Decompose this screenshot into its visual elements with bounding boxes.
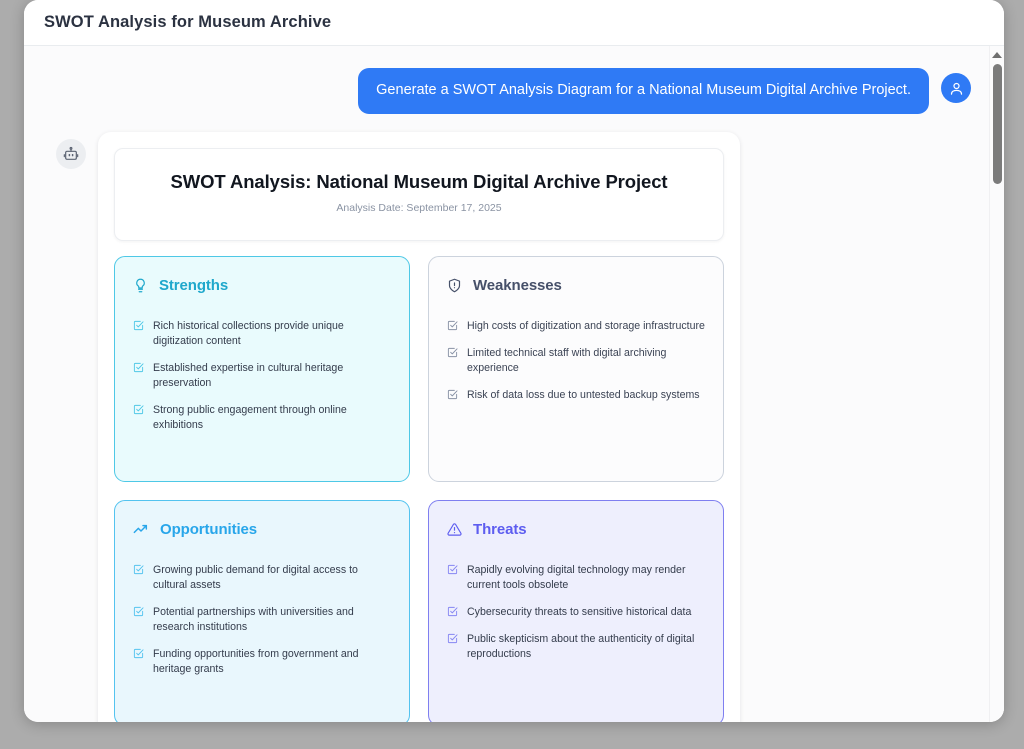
quadrant-item-list: Growing public demand for digital access… (133, 563, 391, 677)
list-item: Cybersecurity threats to sensitive histo… (447, 605, 705, 620)
vertical-scrollbar[interactable] (989, 46, 1004, 722)
chat-scroll-region[interactable]: Generate a SWOT Analysis Diagram for a N… (24, 46, 989, 722)
quadrant-weaknesses: Weaknesses High costs of digitization an… (428, 256, 724, 482)
checkbox-checked-icon (447, 606, 458, 617)
list-item-text: Rich historical collections provide uniq… (153, 319, 391, 349)
list-item: Growing public demand for digital access… (133, 563, 391, 593)
user-message-bubble: Generate a SWOT Analysis Diagram for a N… (358, 68, 929, 114)
list-item-text: Risk of data loss due to untested backup… (467, 388, 700, 403)
chat-area: Generate a SWOT Analysis Diagram for a N… (24, 46, 1004, 722)
robot-icon (56, 139, 86, 169)
swot-subtitle: Analysis Date: September 17, 2025 (131, 202, 707, 214)
checkbox-checked-icon (447, 564, 458, 575)
assistant-message-row: SWOT Analysis: National Museum Digital A… (24, 114, 989, 722)
quadrant-threats: Threats Rapidly evolving digital technol… (428, 500, 724, 722)
list-item-text: Strong public engagement through online … (153, 403, 391, 433)
quadrant-title: Strengths (159, 277, 228, 294)
checkbox-checked-icon (447, 633, 458, 644)
checkbox-checked-icon (133, 564, 144, 575)
trending-up-icon (133, 521, 149, 537)
quadrant-title: Opportunities (160, 521, 257, 538)
list-item: High costs of digitization and storage i… (447, 319, 705, 334)
swot-title: SWOT Analysis: National Museum Digital A… (131, 171, 707, 193)
list-item: Limited technical staff with digital arc… (447, 346, 705, 376)
swot-header: SWOT Analysis: National Museum Digital A… (114, 148, 724, 241)
scrollbar-thumb[interactable] (993, 64, 1002, 184)
quadrant-item-list: Rich historical collections provide uniq… (133, 319, 391, 433)
scroll-up-arrow-icon[interactable] (992, 52, 1002, 58)
user-icon (941, 73, 971, 103)
quadrant-title: Threats (473, 521, 527, 538)
checkbox-checked-icon (133, 362, 144, 373)
list-item-text: Public skepticism about the authenticity… (467, 632, 705, 662)
quadrant-title: Weaknesses (473, 277, 562, 294)
list-item-text: Limited technical staff with digital arc… (467, 346, 705, 376)
list-item-text: Rapidly evolving digital technology may … (467, 563, 705, 593)
list-item-text: Cybersecurity threats to sensitive histo… (467, 605, 691, 620)
list-item: Public skepticism about the authenticity… (447, 632, 705, 662)
checkbox-checked-icon (133, 606, 144, 617)
checkbox-checked-icon (447, 389, 458, 400)
quadrant-header: Threats (447, 521, 705, 538)
shield-alert-icon (447, 278, 462, 293)
list-item: Rapidly evolving digital technology may … (447, 563, 705, 593)
list-item: Potential partnerships with universities… (133, 605, 391, 635)
titlebar: SWOT Analysis for Museum Archive (24, 0, 1004, 46)
quadrant-item-list: High costs of digitization and storage i… (447, 319, 705, 403)
lightbulb-icon (133, 278, 148, 293)
list-item: Risk of data loss due to untested backup… (447, 388, 705, 403)
list-item-text: Potential partnerships with universities… (153, 605, 391, 635)
quadrant-opportunities: Opportunities Growing public demand for … (114, 500, 410, 722)
triangle-alert-icon (447, 522, 462, 537)
checkbox-checked-icon (133, 648, 144, 659)
app-window: SWOT Analysis for Museum Archive Generat… (24, 0, 1004, 722)
swot-quadrant-grid: Strengths Rich historical collections pr… (114, 256, 724, 722)
list-item: Established expertise in cultural herita… (133, 361, 391, 391)
list-item: Rich historical collections provide uniq… (133, 319, 391, 349)
quadrant-item-list: Rapidly evolving digital technology may … (447, 563, 705, 662)
list-item: Funding opportunities from government an… (133, 647, 391, 677)
quadrant-strengths: Strengths Rich historical collections pr… (114, 256, 410, 482)
user-message-row: Generate a SWOT Analysis Diagram for a N… (24, 46, 989, 114)
list-item: Strong public engagement through online … (133, 403, 391, 433)
quadrant-header: Opportunities (133, 521, 391, 538)
quadrant-header: Weaknesses (447, 277, 705, 294)
page-title: SWOT Analysis for Museum Archive (44, 13, 331, 32)
checkbox-checked-icon (133, 320, 144, 331)
checkbox-checked-icon (447, 320, 458, 331)
list-item-text: High costs of digitization and storage i… (467, 319, 705, 334)
checkbox-checked-icon (447, 347, 458, 358)
list-item-text: Established expertise in cultural herita… (153, 361, 391, 391)
swot-diagram-card: SWOT Analysis: National Museum Digital A… (98, 132, 740, 722)
checkbox-checked-icon (133, 404, 144, 415)
list-item-text: Growing public demand for digital access… (153, 563, 391, 593)
list-item-text: Funding opportunities from government an… (153, 647, 391, 677)
quadrant-header: Strengths (133, 277, 391, 294)
